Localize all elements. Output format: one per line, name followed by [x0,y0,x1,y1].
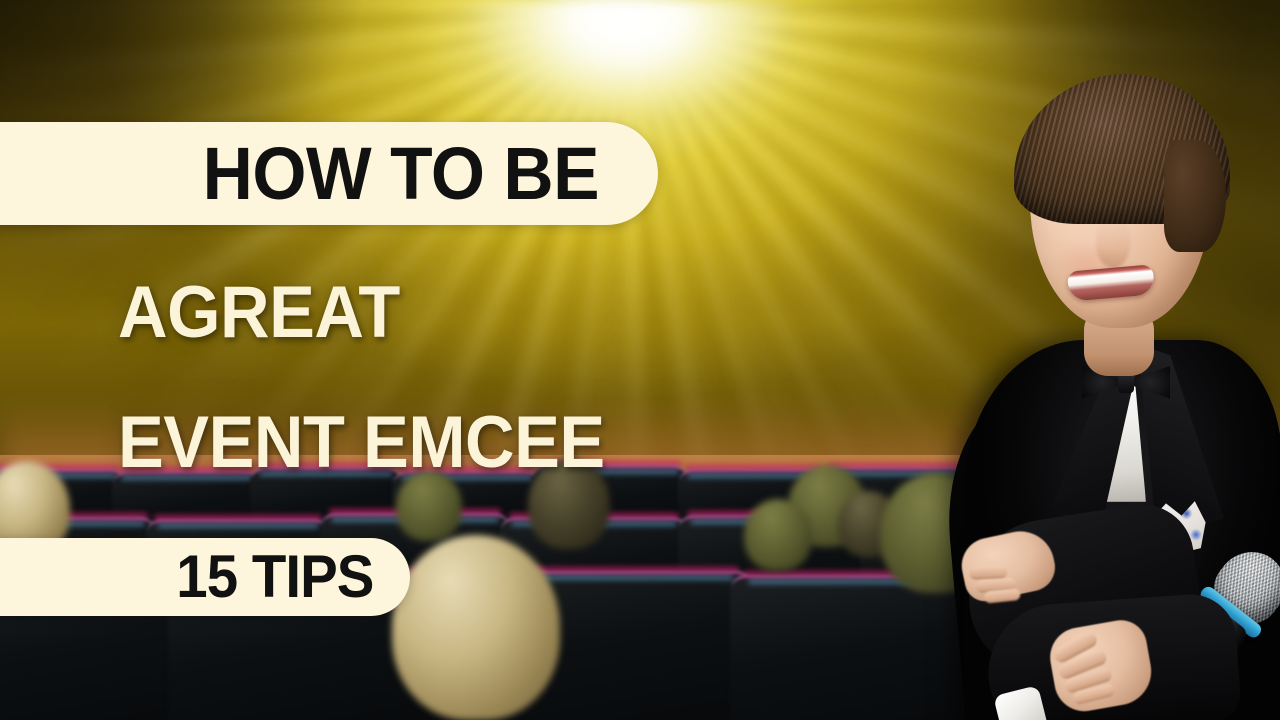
tips-badge-text: 15 TIPS [177,547,374,607]
hair-side [1164,140,1226,252]
emcee-figure [956,44,1280,720]
headline-line2-text: AGREAT [118,276,400,349]
nose [1096,220,1130,268]
audience-head [392,535,560,720]
headline-line1-text: HOW TO BE [203,137,599,211]
tips-badge-pill: 15 TIPS [0,538,410,616]
thumbnail-canvas: HOW TO BE AGREAT EVENT EMCEE 15 TIPS [0,0,1280,720]
audience-head [744,499,812,571]
headline-line3-text: EVENT EMCEE [118,406,605,479]
headline-pill-line1: HOW TO BE [0,122,658,225]
